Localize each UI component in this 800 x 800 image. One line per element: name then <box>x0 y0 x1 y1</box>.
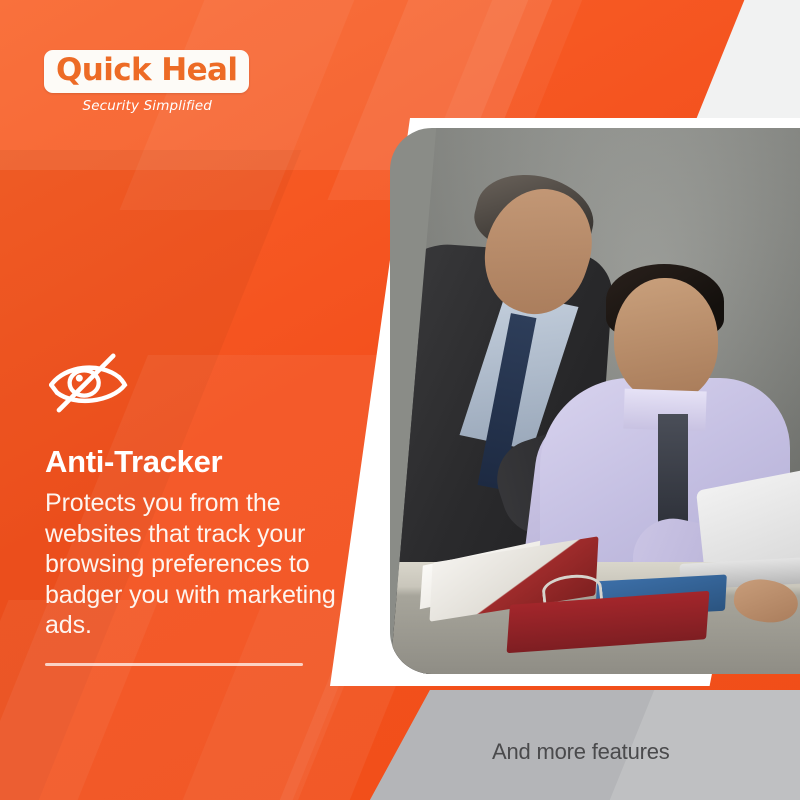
feature-divider <box>45 663 303 666</box>
feature-title: Anti-Tracker <box>45 446 365 477</box>
photo-image <box>390 128 800 674</box>
younger-man-head <box>614 278 718 402</box>
footer-text: And more features <box>492 739 670 765</box>
eye-slash-icon <box>45 352 133 414</box>
brand-logo[interactable]: Quick Heal Security Simplified <box>44 50 216 114</box>
feature-description: Protects you from the websites that trac… <box>45 488 365 641</box>
promo-poster: Quick Heal Security Simplified Anti-Trac… <box>0 0 800 800</box>
logo-box: Quick Heal <box>44 50 249 93</box>
logo-wordmark: Quick Heal <box>56 54 237 87</box>
logo-tagline: Security Simplified <box>44 98 216 114</box>
feature-block: Anti-Tracker Protects you from the websi… <box>45 352 365 641</box>
photo-panel <box>390 128 800 674</box>
